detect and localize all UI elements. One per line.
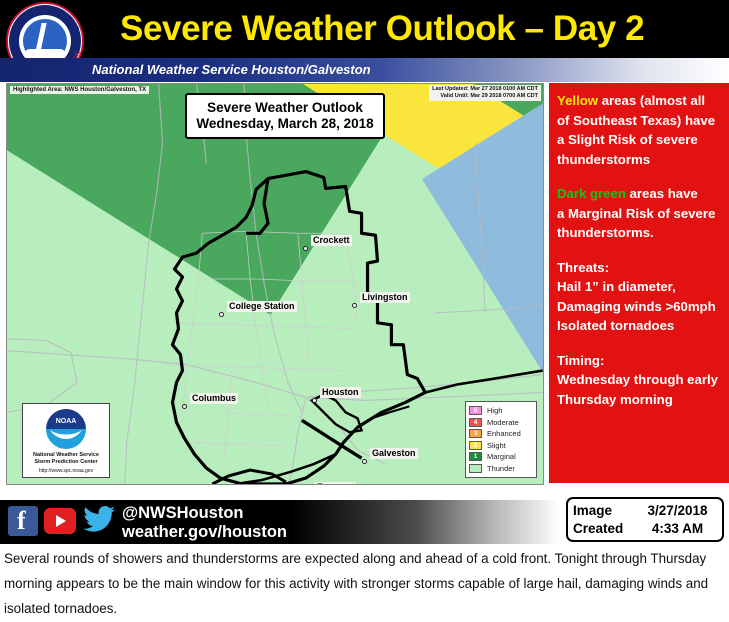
yellow-keyword: Yellow	[557, 93, 598, 108]
facebook-icon[interactable]: f	[8, 506, 38, 536]
panel-spacer	[557, 336, 723, 351]
severe-weather-outlook-graphic: NATIONAL WEATHER SERVICE ★ ★ ★ Severe We…	[0, 0, 729, 622]
map-title-line1: Severe Weather Outlook	[193, 100, 377, 116]
legend-row: 1Marginal	[469, 451, 533, 463]
city-marker-dot	[182, 404, 187, 409]
panel-text: thunderstorms	[557, 152, 650, 167]
valid-until-text: Valid Until: Mar 29 2018 0700 AM CDT	[432, 93, 538, 100]
city-label: Columbus	[190, 393, 238, 404]
legend-label: Marginal	[487, 452, 516, 461]
highlighted-area-label: Highlighted Area: NWS Houston/Galveston,…	[10, 86, 149, 94]
twitter-icon[interactable]	[82, 505, 116, 535]
panel-text: thunderstorms.	[557, 225, 654, 240]
panel-text: Threats:	[557, 260, 609, 275]
twitter-handle: @NWSHouston	[122, 504, 287, 523]
panel-text-line: Timing:	[557, 351, 723, 371]
city-marker-dot	[303, 246, 308, 251]
panel-text-line: a Slight Risk of severe	[557, 130, 723, 150]
image-label-line1: Image	[573, 502, 633, 520]
noaa-logo-icon: NOAA	[44, 408, 88, 450]
panel-text: of Southeast Texas) have	[557, 113, 715, 128]
svg-text:NOAA: NOAA	[56, 418, 77, 425]
image-created-time: 4:33 AM	[633, 520, 722, 538]
youtube-icon[interactable]	[44, 508, 76, 534]
legend-swatch: 5	[469, 406, 482, 415]
social-handles: @NWSHouston weather.gov/houston	[122, 504, 287, 542]
risk-legend: 5High4Moderate3Enhanced2Slight1MarginalT…	[465, 401, 537, 478]
panel-text: Timing:	[557, 353, 604, 368]
panel-text: Wednesday through early	[557, 372, 718, 387]
legend-label: Thunder	[487, 464, 515, 473]
image-created-box: Image Created 3/27/2018 4:33 AM	[566, 497, 724, 542]
risk-summary-panel: Yellow areas (almost allof Southeast Tex…	[549, 83, 729, 483]
map-title-box: Severe Weather Outlook Wednesday, March …	[185, 93, 385, 139]
panel-text-line: Hail 1” in diameter,	[557, 277, 723, 297]
noaa-line2: Storm Prediction Center	[25, 459, 107, 466]
panel-text-line: a Marginal Risk of severe	[557, 204, 723, 224]
panel-text-line: Thursday morning	[557, 390, 723, 410]
outlook-map[interactable]: Highlighted Area: NWS Houston/Galveston,…	[6, 83, 544, 485]
panel-text-line: Threats:	[557, 258, 723, 278]
forecast-description: Several rounds of showers and thundersto…	[4, 546, 720, 621]
last-updated-text: Last Updated: Mar 27 2018 0100 AM CDT	[432, 86, 538, 93]
panel-text: Damaging winds >60mph	[557, 299, 716, 314]
page-title: Severe Weather Outlook – Day 2	[120, 4, 720, 54]
city-marker-dot	[219, 312, 224, 317]
website-url: weather.gov/houston	[122, 523, 287, 542]
legend-row: 4Moderate	[469, 417, 533, 429]
noaa-line1: National Weather Service	[25, 452, 107, 459]
noaa-spc-logo-box: NOAA National Weather Service Storm Pred…	[22, 403, 110, 478]
panel-text-line: Wednesday through early	[557, 370, 723, 390]
panel-text: Isolated tornadoes	[557, 318, 674, 333]
panel-text-line: thunderstorms.	[557, 223, 723, 243]
panel-text-line: Damaging winds >60mph	[557, 297, 723, 317]
panel-text-line: thunderstorms	[557, 150, 723, 170]
legend-swatch: 3	[469, 429, 482, 438]
legend-label: Moderate	[487, 418, 519, 427]
legend-swatch	[469, 464, 482, 473]
map-title-line2: Wednesday, March 28, 2018	[193, 116, 377, 132]
image-created-label: Image Created	[568, 502, 633, 538]
image-created-date: 3/27/2018	[633, 502, 722, 520]
legend-row: 5High	[469, 405, 533, 417]
panel-text: areas have	[626, 186, 698, 201]
city-marker-dot	[312, 398, 317, 403]
svg-text:NATIONAL WEATHER: NATIONAL WEATHER	[11, 6, 82, 38]
legend-swatch: 1	[469, 452, 482, 461]
legend-label: High	[487, 406, 502, 415]
legend-swatch: 2	[469, 441, 482, 450]
panel-text-line: Yellow areas (almost all	[557, 91, 723, 111]
panel-text-line: Isolated tornadoes	[557, 316, 723, 336]
panel-text: Thursday morning	[557, 392, 673, 407]
panel-spacer	[557, 169, 723, 184]
city-label: Crockett	[311, 235, 352, 246]
noaa-url: http://www.spc.noaa.gov	[25, 468, 107, 474]
city-label: Livingston	[360, 292, 410, 303]
city-label: Galveston	[370, 448, 418, 459]
legend-swatch: 4	[469, 418, 482, 427]
city-label: Freeport	[315, 482, 356, 485]
panel-text-line: Dark green areas have	[557, 184, 723, 204]
legend-row: Thunder	[469, 463, 533, 475]
legend-label: Enhanced	[487, 429, 521, 438]
city-label: Houston	[320, 387, 361, 398]
panel-text: a Slight Risk of severe	[557, 132, 698, 147]
panel-text: a Marginal Risk of severe	[557, 206, 715, 221]
panel-text: areas (almost all	[598, 93, 705, 108]
image-label-line2: Created	[573, 520, 633, 538]
city-marker-dot	[352, 303, 357, 308]
city-label: College Station	[227, 301, 297, 312]
city-marker-dot	[362, 459, 367, 464]
image-created-value: 3/27/2018 4:33 AM	[633, 502, 722, 538]
legend-row: 2Slight	[469, 440, 533, 452]
panel-text: Hail 1” in diameter,	[557, 279, 676, 294]
green-keyword: Dark green	[557, 186, 626, 201]
panel-text-line: of Southeast Texas) have	[557, 111, 723, 131]
panel-spacer	[557, 243, 723, 258]
valid-times-label: Last Updated: Mar 27 2018 0100 AM CDT Va…	[429, 85, 541, 101]
legend-row: 3Enhanced	[469, 428, 533, 440]
office-name: National Weather Service Houston/Galvest…	[92, 58, 371, 82]
legend-label: Slight	[487, 441, 506, 450]
